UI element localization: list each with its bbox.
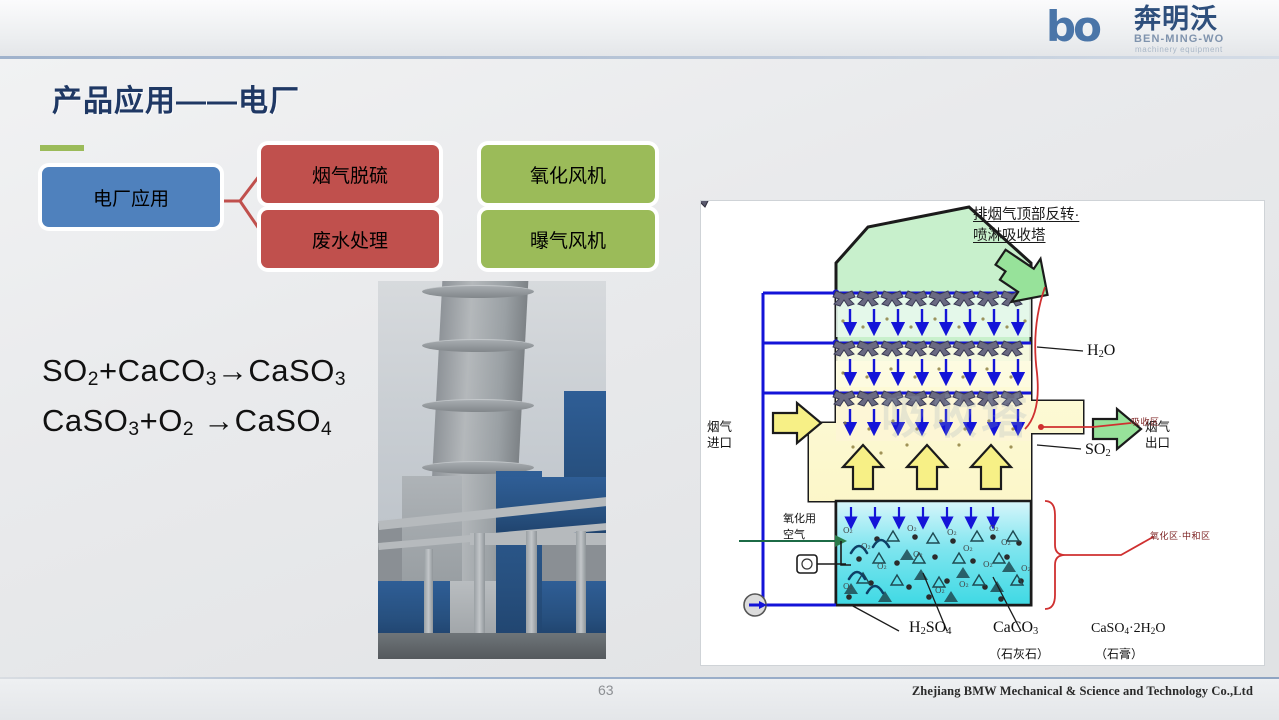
svg-text:O₂: O₂ bbox=[877, 562, 887, 571]
flow-node-oxidation-label: 氧化风机 bbox=[530, 161, 606, 188]
chemical-equations: SO2+CaCO3→CaSO3 CaSO3+O2 →CaSO4 bbox=[42, 350, 346, 450]
flow-connector-green-bottom bbox=[40, 148, 84, 151]
label-oxidation-air-line2: 空气 bbox=[783, 529, 805, 541]
flow-node-wastewater-label: 废水处理 bbox=[312, 226, 388, 253]
flowchart: 电厂应用 烟气脱硫 废水处理 氧化风机 曝气风机 bbox=[40, 145, 680, 270]
svg-text:O₂: O₂ bbox=[983, 560, 993, 569]
spray-nozzles bbox=[701, 201, 708, 207]
svg-text:O₂: O₂ bbox=[1001, 538, 1011, 547]
diagram-title-line1: 排烟气顶部反转· bbox=[973, 207, 1079, 223]
eq1-sub-b: 3 bbox=[206, 369, 217, 390]
label-caso4: CaSO4·2H2O bbox=[1091, 621, 1165, 637]
label-outlet-line2: 出口 bbox=[1145, 436, 1170, 450]
gas-up-arrows bbox=[843, 445, 1011, 489]
label-gypsum: （石膏） bbox=[1095, 645, 1143, 662]
label-oxidation-air-line1: 氧化用 bbox=[783, 513, 816, 525]
oxidation-zone-brace bbox=[1045, 501, 1153, 609]
eq1-sub-c: 3 bbox=[335, 369, 346, 390]
label-so2: SO2 bbox=[1085, 441, 1111, 459]
diagram-title: 排烟气顶部反转· 喷淋吸收塔 bbox=[973, 205, 1213, 247]
photo-column bbox=[526, 531, 537, 647]
svg-text:O₂: O₂ bbox=[907, 524, 917, 533]
page-title: 产品应用——电厂 bbox=[52, 76, 300, 120]
photo-ground bbox=[378, 633, 606, 659]
fgd-schematic-svg: O₂O₂O₂ O₂O₂O₂ O₂O₂O₂ O₂O₂O₂ O₂O₂ bbox=[701, 201, 1264, 665]
label-caco3: CaCO3 bbox=[993, 619, 1038, 637]
svg-text:O₂: O₂ bbox=[843, 526, 853, 535]
photo-column bbox=[474, 533, 485, 645]
photo-tower-ring bbox=[422, 399, 534, 412]
svg-text:O₂: O₂ bbox=[963, 544, 973, 553]
label-h2so4: H2SO4 bbox=[909, 619, 951, 637]
svg-text:O₂: O₂ bbox=[947, 528, 957, 537]
eq2-part-b: +O bbox=[140, 403, 183, 438]
flow-node-power-plant[interactable]: 电厂应用 bbox=[42, 167, 220, 227]
label-oxidation-air: 氧化用 空气 bbox=[783, 511, 816, 543]
svg-text:O₂: O₂ bbox=[935, 586, 945, 595]
flow-node-flue-gas-desulfurization[interactable]: 烟气脱硫 bbox=[261, 145, 439, 203]
photo-column bbox=[576, 531, 586, 647]
label-water: H2O bbox=[1087, 342, 1115, 360]
photo-blue-structure bbox=[542, 581, 606, 641]
eq2-part-a: CaSO bbox=[42, 403, 128, 438]
company-logo: bo 奔明沃 BEN-MING-WO machinery equipment bbox=[1046, 4, 1261, 54]
footer-company-name: Zhejiang BMW Mechanical & Science and Te… bbox=[912, 684, 1253, 699]
label-absorption-zone: 吸收区 bbox=[1131, 414, 1160, 430]
logo-tagline: machinery equipment bbox=[1135, 45, 1223, 54]
equation-line-1: SO2+CaCO3→CaSO3 bbox=[42, 350, 346, 400]
plant-photo bbox=[378, 281, 606, 659]
logo-mark: bo bbox=[1046, 6, 1099, 48]
logo-english-name: BEN-MING-WO bbox=[1134, 33, 1224, 45]
page-number: 63 bbox=[598, 682, 614, 698]
label-flue-gas-inlet: 烟气 进口 bbox=[707, 419, 732, 451]
svg-text:O₂: O₂ bbox=[1021, 564, 1031, 573]
photo-tower-ring bbox=[422, 339, 534, 352]
label-inlet-line2: 进口 bbox=[707, 436, 732, 450]
label-limestone: （石灰石） bbox=[989, 645, 1049, 662]
photo-tower-ring bbox=[422, 285, 534, 298]
eq2-part-c: →CaSO bbox=[194, 403, 321, 438]
equation-line-2: CaSO3+O2 →CaSO4 bbox=[42, 400, 346, 450]
label-inlet-line1: 烟气 bbox=[707, 420, 732, 434]
svg-text:O₂: O₂ bbox=[861, 542, 871, 551]
eq1-part-a: SO bbox=[42, 353, 88, 388]
flow-node-oxidation-blower[interactable]: 氧化风机 bbox=[481, 145, 655, 203]
eq2-sub-b: 2 bbox=[183, 419, 194, 440]
flow-node-power-plant-label: 电厂应用 bbox=[93, 184, 169, 211]
flow-node-aeration-blower[interactable]: 曝气风机 bbox=[481, 210, 655, 268]
fgd-schematic-diagram: 吸收塔 bbox=[700, 200, 1265, 666]
svg-text:O₂: O₂ bbox=[989, 524, 999, 533]
svg-text:O₂: O₂ bbox=[843, 582, 853, 591]
label-oxidation-zone: 氧化区·中和区 bbox=[1150, 528, 1211, 544]
flow-node-fgd-label: 烟气脱硫 bbox=[312, 161, 388, 188]
flow-node-aeration-label: 曝气风机 bbox=[530, 226, 606, 253]
diagram-title-line2: 喷淋吸收塔 bbox=[973, 228, 1046, 244]
svg-text:O₂: O₂ bbox=[913, 550, 923, 559]
flow-node-wastewater-treatment[interactable]: 废水处理 bbox=[261, 210, 439, 268]
eq2-sub-a: 3 bbox=[128, 419, 139, 440]
eq1-sub-a: 2 bbox=[88, 369, 99, 390]
eq1-part-b: +CaCO bbox=[99, 353, 206, 388]
eq1-part-c: →CaSO bbox=[217, 353, 335, 388]
logo-chinese-name: 奔明沃 bbox=[1134, 5, 1218, 33]
eq2-sub-c: 4 bbox=[321, 419, 332, 440]
svg-text:O₂: O₂ bbox=[959, 580, 969, 589]
header-divider bbox=[0, 56, 1279, 59]
photo-column bbox=[424, 549, 433, 645]
